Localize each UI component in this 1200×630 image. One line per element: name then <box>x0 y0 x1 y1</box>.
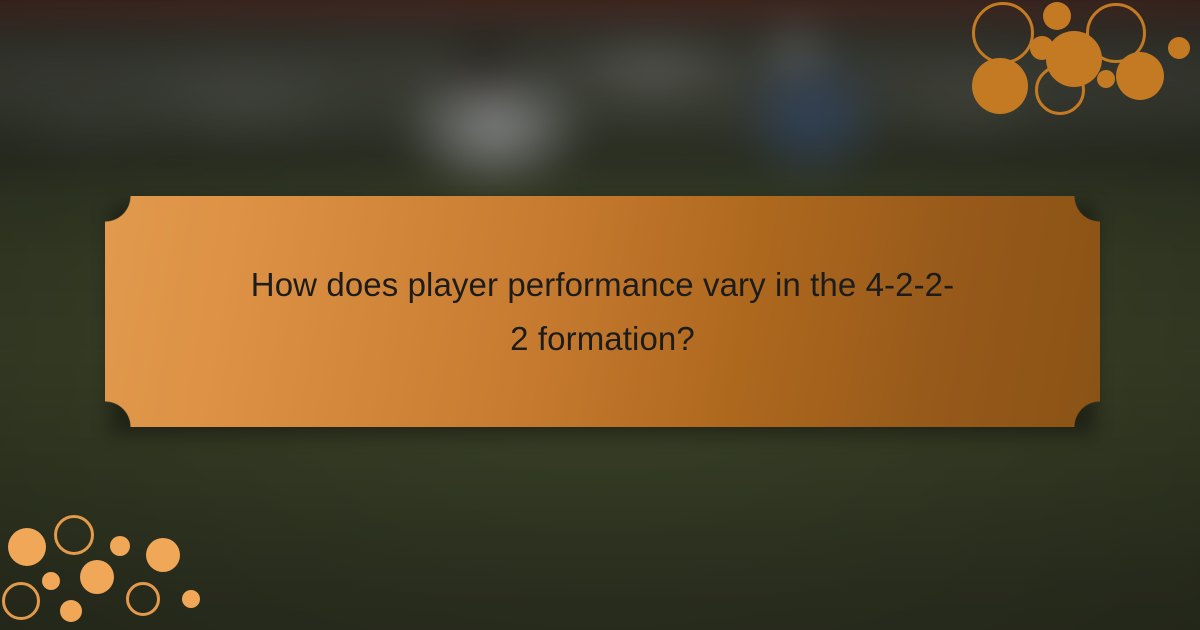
question-text: How does player performance vary in the … <box>223 258 983 365</box>
question-card: How does player performance vary in the … <box>105 196 1100 427</box>
question-card-graphic: How does player performance vary in the … <box>0 0 1200 630</box>
card-surface: How does player performance vary in the … <box>105 196 1100 427</box>
